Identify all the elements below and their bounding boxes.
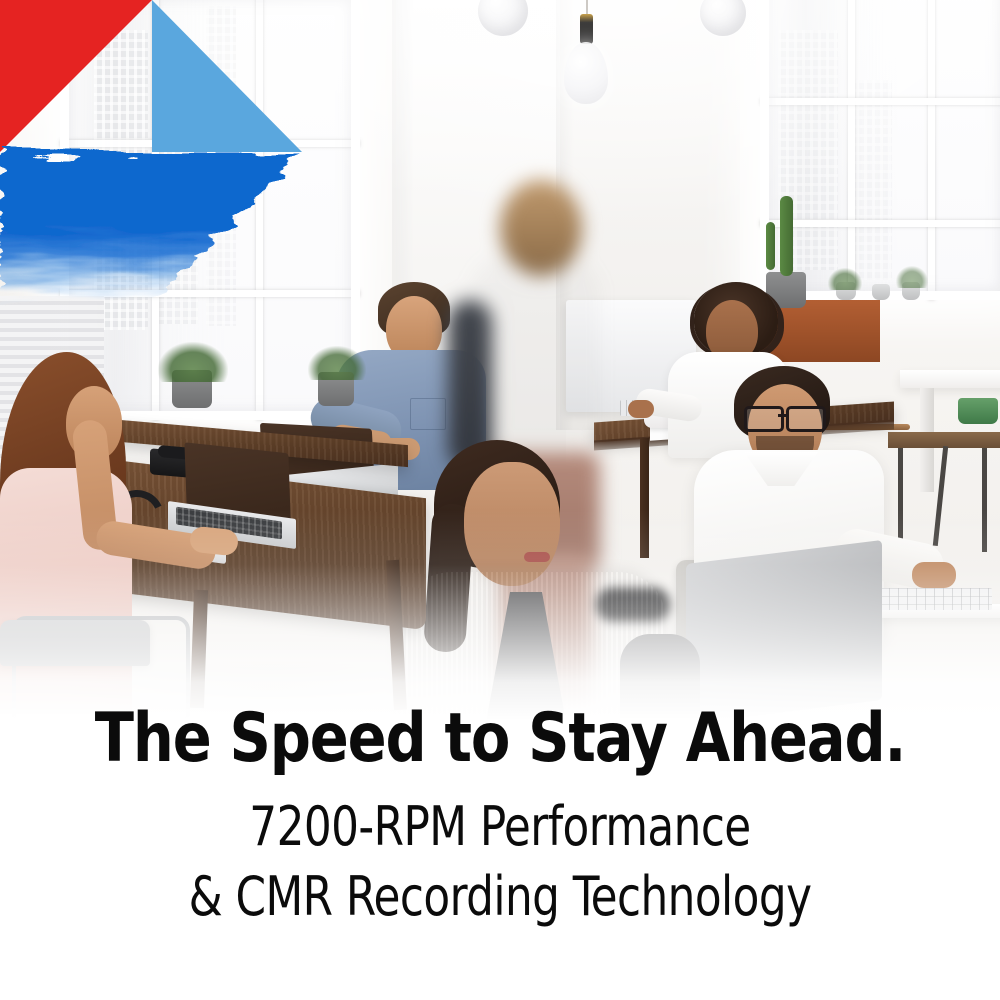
- page-title: The Speed to Stay Ahead.: [30, 700, 970, 778]
- laptop-right-foreground: [686, 540, 882, 720]
- wall-shelf: [760, 300, 880, 362]
- hand-woman-curly: [628, 400, 654, 418]
- subtitle-line-2: & CMR Recording Technology: [50, 862, 950, 932]
- green-pot: [958, 398, 998, 424]
- lamp-socket-1: [580, 14, 593, 44]
- desk-back-right-leg: [640, 438, 649, 558]
- office-photo: [0, 0, 1000, 720]
- small-plant-leaves-1: [828, 268, 862, 290]
- stool-leg-2: [982, 448, 987, 552]
- plant-leaves-left: [158, 342, 228, 382]
- small-pot-2: [872, 284, 890, 300]
- subtitle-line-1: 7200-RPM Performance: [50, 792, 950, 862]
- headline-block: The Speed to Stay Ahead. 7200-RPM Perfor…: [0, 700, 1000, 932]
- lips: [524, 552, 550, 562]
- window-right: [760, 0, 1000, 300]
- head-woman-gray: [464, 462, 560, 586]
- shirt-pocket: [410, 398, 446, 430]
- hand-man-glasses: [912, 562, 956, 588]
- cactus-arm: [766, 222, 775, 270]
- small-plant-leaves-2: [896, 266, 928, 288]
- stool-leg-1: [898, 448, 903, 552]
- marketing-banner: The Speed to Stay Ahead. 7200-RPM Perfor…: [0, 0, 1000, 1000]
- glasses-icon: [744, 406, 826, 426]
- white-side-table: [900, 370, 1000, 388]
- cactus-plant: [780, 196, 793, 276]
- plant-leaves-terracotta: [308, 346, 366, 380]
